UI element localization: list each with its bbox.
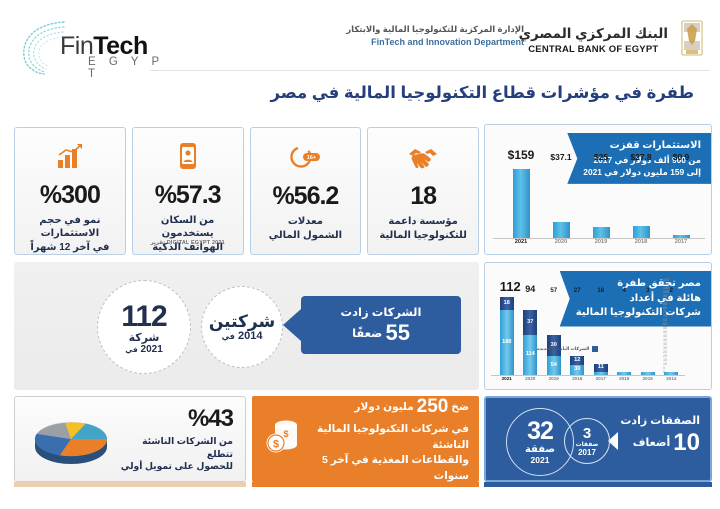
header-divider bbox=[150, 70, 710, 71]
deals-title: الصفقات زادت bbox=[620, 414, 700, 427]
growth-to-unit: شركة bbox=[129, 331, 160, 344]
kpi-label-line2: الشمول المالي bbox=[269, 230, 342, 241]
companies-chart-panel: مصر تحقق طفرة هائلة في أعداد شركات التكن… bbox=[484, 262, 712, 390]
growth-from-year-prefix: في bbox=[222, 332, 235, 341]
investments-year-label: 2021 bbox=[513, 239, 530, 250]
companies-year-label: 2020 bbox=[523, 376, 537, 386]
seed-funding-pie-panel: %43 من الشركات الناشئة تتطلع للحصول على … bbox=[14, 396, 246, 482]
deals-to-value: 32 bbox=[527, 419, 553, 444]
growth-tag-line1: الشركات زادت bbox=[341, 305, 422, 319]
kpi-card-financial-inclusion: +16 %56.2 معدلات الشمول المالي bbox=[250, 127, 362, 255]
companies-year-label: 2018 bbox=[570, 376, 584, 386]
investments-bar-label: $37.1 bbox=[550, 152, 571, 162]
pie-headline-value: %43 bbox=[119, 405, 233, 433]
companies-segment-total bbox=[641, 372, 655, 375]
page-title: طفرة في مؤشرات قطاع التكنولوجيا المالية … bbox=[214, 83, 694, 103]
logo-egypt-text: E G Y P T bbox=[88, 56, 178, 80]
companies-segment-total: 188 bbox=[500, 310, 514, 375]
kpi-label-line2: للتكنولوجيا المالية bbox=[379, 230, 466, 241]
companies-segment-new: 18 bbox=[500, 297, 514, 310]
kpi-label: من السكان يستخدمون الهواتف الذكية bbox=[133, 214, 243, 255]
growth-to-year-number: 2021 bbox=[141, 344, 163, 355]
deals-multiplier-line: 10 أضعاف bbox=[620, 429, 700, 457]
companies-total-label: 3 bbox=[641, 288, 655, 294]
footer-bar-orange bbox=[252, 482, 479, 487]
companies-segment-total: 54 bbox=[547, 356, 561, 375]
growth-arrow-icon bbox=[283, 309, 301, 341]
investments-bar-column: $159 bbox=[513, 164, 530, 238]
growth-to-circle: 112 شركة 2021 في bbox=[97, 280, 191, 374]
companies-segment-new: 12 bbox=[570, 356, 584, 364]
kpi-label-line1: من السكان يستخدمون bbox=[161, 215, 214, 240]
svg-text:$: $ bbox=[273, 439, 279, 451]
kpi-cards-row: 18 مؤسسة داعمة للتكنولوجيا المالية +16 %… bbox=[14, 127, 479, 255]
kpi-card-smartphone-users: %57.3 من السكان يستخدمون الهواتف الذكية … bbox=[132, 127, 244, 255]
deals-multiplier-value: 10 bbox=[673, 429, 700, 456]
legend-swatch-new-startups bbox=[592, 346, 598, 352]
companies-total-label: 94 bbox=[523, 284, 537, 294]
companies-total-label: 4 bbox=[617, 288, 631, 294]
funding-line1-suffix: مليون دولار bbox=[354, 401, 413, 413]
companies-total-label: 27 bbox=[570, 288, 584, 294]
companies-y-tick: 0 bbox=[663, 370, 681, 374]
investments-bar-label: $0.9 bbox=[673, 152, 690, 162]
kpi-value: %300 bbox=[40, 181, 100, 210]
growth-to-year-prefix: في bbox=[125, 345, 138, 354]
companies-y-axis-ticks: 0510152025303540455055606570758085909510… bbox=[663, 294, 681, 374]
growth-from-year: 2014 في bbox=[222, 330, 263, 342]
kpi-value: %57.3 bbox=[155, 181, 221, 210]
kpi-value: 18 bbox=[410, 182, 436, 211]
companies-total-label: 16 bbox=[594, 288, 608, 294]
investments-bar-label: $27.8 bbox=[630, 152, 651, 162]
gauge-plus16-icon: +16 bbox=[288, 140, 322, 174]
investments-bar-column: $25 bbox=[593, 164, 610, 238]
pie-label: من الشركات الناشئة تتطلع للحصول على تموي… bbox=[119, 435, 233, 474]
funding-line2: في شركات التكنولوجيا المالية الناشئة bbox=[306, 422, 469, 454]
growth-from-circle: شركتين 2014 في bbox=[201, 286, 283, 368]
central-bank-name-en: CENTRAL BANK OF EGYPT bbox=[519, 44, 668, 55]
investments-year-label: 2017 bbox=[673, 239, 690, 250]
funding-amount: 250 bbox=[417, 396, 449, 417]
deals-from-value: 3 bbox=[583, 426, 591, 441]
companies-bar-chart: 2341116122730305754379411418112188 20142… bbox=[491, 290, 685, 386]
central-bank-names: البنك المركزي المصري CENTRAL BANK OF EGY… bbox=[519, 26, 668, 55]
growth-to-value: 112 bbox=[121, 300, 166, 334]
deals-to-unit: صفقة bbox=[525, 444, 555, 455]
department-name-ar: الإدارة المركزية للتكنولوجيا المالية وال… bbox=[346, 24, 524, 35]
bar-growth-glyph bbox=[56, 143, 84, 169]
companies-bar-column: 4 bbox=[617, 295, 631, 375]
smartphone-icon bbox=[179, 140, 197, 173]
money-stack-glyph: $ $ bbox=[262, 413, 302, 465]
fintech-egypt-logo: FinTech E G Y P T bbox=[18, 12, 178, 74]
kpi-source-note: DIGITAL EGYPT 2021 تقرير bbox=[151, 240, 225, 246]
deals-to-circle: 32 صفقة 2021 bbox=[506, 408, 574, 476]
companies-bar-column: 1116 bbox=[594, 295, 608, 375]
kpi-label: نمو في حجم الاستثمارات في آخر 12 شهراً bbox=[15, 214, 125, 255]
companies-total-label: 57 bbox=[547, 288, 561, 294]
companies-year-label: 2019 bbox=[547, 376, 561, 386]
growth-to-year: 2021 في bbox=[125, 344, 163, 355]
kpi-card-investment-growth: %300 نمو في حجم الاستثمارات في آخر 12 شه… bbox=[14, 127, 126, 255]
handshake-glyph bbox=[407, 145, 439, 169]
kpi-label: مؤسسة داعمة للتكنولوجيا المالية bbox=[375, 215, 470, 242]
department-name-en: FinTech and Innovation Department bbox=[346, 37, 524, 47]
deals-headline: الصفقات زادت 10 أضعاف bbox=[620, 414, 700, 457]
companies-year-label: 2016 bbox=[617, 376, 631, 386]
growth-multiplier-tag: الشركات زادت 55 ضعفًا bbox=[301, 296, 461, 354]
companies-segment-total bbox=[594, 372, 608, 375]
companies-bar-column: 18112188 bbox=[500, 295, 514, 375]
money-stack-icon: $ $ bbox=[262, 413, 302, 465]
deals-multiplier-suffix: أضعاف bbox=[633, 437, 671, 449]
investments-year-label: 2020 bbox=[553, 239, 570, 250]
handshake-icon bbox=[407, 140, 439, 174]
companies-bar-column: 122730 bbox=[570, 295, 584, 375]
growth-from-value: شركتين bbox=[209, 312, 275, 332]
department-block: الإدارة المركزية للتكنولوجيا المالية وال… bbox=[346, 24, 524, 47]
deals-from-year: 2017 bbox=[578, 448, 596, 457]
investments-bar-label: $159 bbox=[508, 148, 535, 162]
investments-bar bbox=[633, 226, 650, 238]
investments-bar-label: $25 bbox=[594, 152, 608, 162]
companies-segment-total: 114 bbox=[523, 335, 537, 375]
kpi-card-supporting-institutions: 18 مؤسسة داعمة للتكنولوجيا المالية bbox=[367, 127, 479, 255]
pie-label-line1: من الشركات الناشئة تتطلع bbox=[142, 436, 233, 459]
investments-bar bbox=[673, 235, 690, 238]
deals-to-year: 2021 bbox=[531, 455, 550, 465]
companies-year-label: 2014 bbox=[664, 376, 678, 386]
pie-text-block: %43 من الشركات الناشئة تتطلع للحصول على … bbox=[119, 405, 237, 474]
funding-injection-panel: ضخ 250 مليون دولار في شركات التكنولوجيا … bbox=[252, 396, 479, 482]
svg-text:+16: +16 bbox=[307, 155, 316, 161]
companies-year-labels: 20142015201620172018201920202021 bbox=[495, 376, 683, 386]
bar-growth-icon bbox=[56, 140, 84, 173]
funding-line1: ضخ 250 مليون دولار bbox=[306, 393, 469, 422]
companies-chart-legend: الشركات الناشئة الجديدة bbox=[537, 346, 598, 352]
growth-from-year-number: 2014 bbox=[238, 330, 262, 342]
footer-bar-beige bbox=[14, 482, 246, 487]
investments-chart-panel: الاستثمارات قفزت من 900 ألف دولار في 201… bbox=[484, 124, 712, 255]
companies-bar-column: 305754 bbox=[547, 295, 561, 375]
kpi-label-line2: في آخر 12 شهراً bbox=[30, 242, 109, 253]
companies-bars: 2341116122730305754379411418112188 bbox=[495, 295, 683, 375]
kpi-label-line1: نمو في حجم الاستثمارات bbox=[39, 215, 100, 240]
smartphone-glyph bbox=[179, 142, 197, 170]
pie-chart-graphic bbox=[23, 405, 119, 473]
investments-bar-column: $27.8 bbox=[633, 164, 650, 238]
central-bank-name-ar: البنك المركزي المصري bbox=[519, 26, 668, 42]
companies-bar-column: 3794114 bbox=[523, 295, 537, 375]
funding-line1-prefix: ضخ bbox=[451, 401, 469, 413]
companies-total-label: 112 bbox=[500, 279, 514, 294]
investments-bar bbox=[553, 222, 570, 238]
deals-from-unit: صفقات bbox=[576, 441, 599, 448]
growth-multiplier-value: 55 bbox=[385, 320, 409, 345]
investments-bar-chart: $0.9$27.8$25$37.1$159 201720182019202020… bbox=[493, 158, 705, 250]
investments-year-label: 2019 bbox=[593, 239, 610, 250]
investments-year-labels: 20172018201920202021 bbox=[501, 239, 701, 250]
kpi-label-line1: مؤسسة داعمة bbox=[388, 216, 457, 227]
companies-growth-band: الشركات زادت 55 ضعفًا شركتين 2014 في 112… bbox=[14, 262, 479, 390]
investments-bar-column: $0.9 bbox=[673, 164, 690, 238]
central-bank-block: البنك المركزي المصري CENTRAL BANK OF EGY… bbox=[519, 16, 708, 64]
deals-growth-panel: الصفقات زادت 10 أضعاف 3 صفقات 2017 32 صف… bbox=[484, 396, 712, 482]
companies-bar-column: 3 bbox=[641, 295, 655, 375]
investments-bar bbox=[593, 227, 610, 238]
companies-segment-new: 11 bbox=[594, 364, 608, 372]
investments-year-label: 2018 bbox=[633, 239, 650, 250]
kpi-label: معدلات الشمول المالي bbox=[265, 215, 346, 242]
pie-chart-svg bbox=[23, 405, 119, 473]
kpi-value: %56.2 bbox=[272, 182, 338, 211]
footer-bar-blue bbox=[484, 482, 712, 487]
growth-tag-line2: 55 ضعفًا bbox=[352, 320, 410, 346]
pie-label-line2: للحصول على تمويل أولي bbox=[121, 461, 233, 471]
investments-bars: $0.9$27.8$25$37.1$159 bbox=[501, 164, 701, 238]
investments-bar-column: $37.1 bbox=[553, 164, 570, 238]
funding-line3: والقطاعات المغذية في آخر 5 سنوات bbox=[306, 453, 469, 485]
companies-year-label: 2015 bbox=[641, 376, 655, 386]
footer-color-bars bbox=[0, 482, 720, 487]
companies-segment-total bbox=[617, 372, 631, 375]
companies-segment-total: 30 bbox=[570, 365, 584, 375]
investments-bar bbox=[513, 169, 530, 238]
legend-label-new-startups: الشركات الناشئة الجديدة bbox=[537, 346, 589, 352]
funding-text-block: ضخ 250 مليون دولار في شركات التكنولوجيا … bbox=[306, 393, 469, 485]
egypt-eagle-crest-icon bbox=[676, 19, 708, 61]
kpi-label-line1: معدلات bbox=[288, 216, 323, 227]
companies-year-label: 2017 bbox=[594, 376, 608, 386]
page-header: FinTech E G Y P T الإدارة المركزية للتكن… bbox=[0, 0, 720, 74]
companies-segment-new: 37 bbox=[523, 310, 537, 336]
svg-text:$: $ bbox=[283, 429, 288, 439]
gauge-glyph: +16 bbox=[288, 144, 322, 170]
growth-multiplier-suffix: ضعفًا bbox=[352, 328, 382, 340]
companies-year-label: 2021 bbox=[500, 376, 514, 386]
